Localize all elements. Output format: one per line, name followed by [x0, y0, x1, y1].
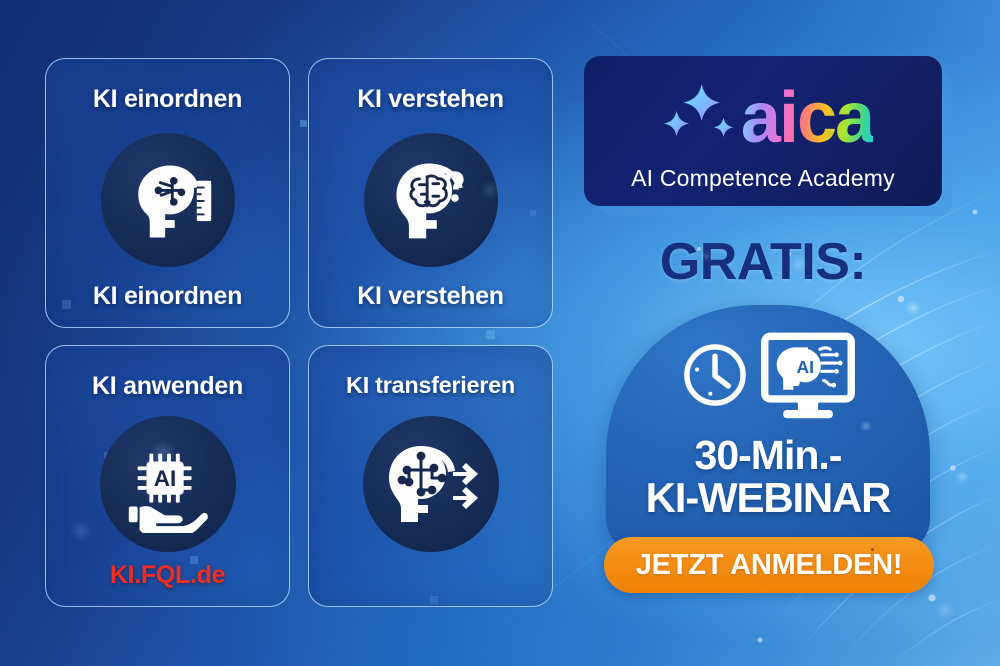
svg-text:AI: AI: [153, 466, 176, 491]
logo-row: aica: [653, 74, 873, 163]
clock-icon: [676, 336, 754, 419]
card-title: KI einordnen: [46, 85, 289, 114]
head-circuit-ruler-icon: [101, 133, 235, 267]
svg-text:AI: AI: [797, 357, 814, 377]
promo-headline: GRATIS:: [584, 232, 942, 292]
card-ki-einordnen[interactable]: KI einordnen: [45, 58, 290, 328]
sparkles-icon: [653, 74, 737, 163]
head-brain-question-icon: [364, 133, 498, 267]
card-title: KI verstehen: [309, 85, 552, 114]
card-ki-verstehen[interactable]: KI verstehen KI ve: [308, 58, 553, 328]
logo-subtitle: AI Competence Academy: [631, 165, 895, 192]
monitor-ai-head-icon: AI: [756, 329, 860, 426]
card-caption: KI einordnen: [46, 282, 289, 311]
logo-wordmark: aica: [741, 84, 873, 152]
card-caption: KI verstehen: [309, 282, 552, 311]
card-ki-anwenden[interactable]: KI anwenden AI: [45, 345, 290, 607]
jetzt-anmelden-button[interactable]: JETZT ANMELDEN!: [604, 537, 934, 593]
aica-logo-badge[interactable]: aica AI Competence Academy: [584, 56, 942, 206]
head-network-arrows-icon: [363, 416, 499, 552]
card-title: KI transferieren: [309, 372, 552, 399]
webinar-panel[interactable]: AI 30-Min.- KI-WEBINAR: [606, 305, 930, 553]
ai-chip-in-hand-icon: AI: [100, 416, 236, 552]
card-title: KI anwenden: [46, 372, 289, 401]
webinar-title: 30-Min.- KI-WEBINAR: [606, 435, 930, 520]
webinar-line-1: 30-Min.-: [606, 435, 930, 477]
card-caption-url: KI.FQL.de: [46, 561, 289, 590]
competence-card-grid: KI einordnen: [45, 58, 555, 608]
webinar-line-2: KI-WEBINAR: [606, 477, 930, 520]
poster-canvas: KI einordnen: [0, 0, 1000, 666]
webinar-icon-row: AI: [606, 329, 930, 426]
card-ki-transferieren[interactable]: KI transferieren: [308, 345, 553, 607]
